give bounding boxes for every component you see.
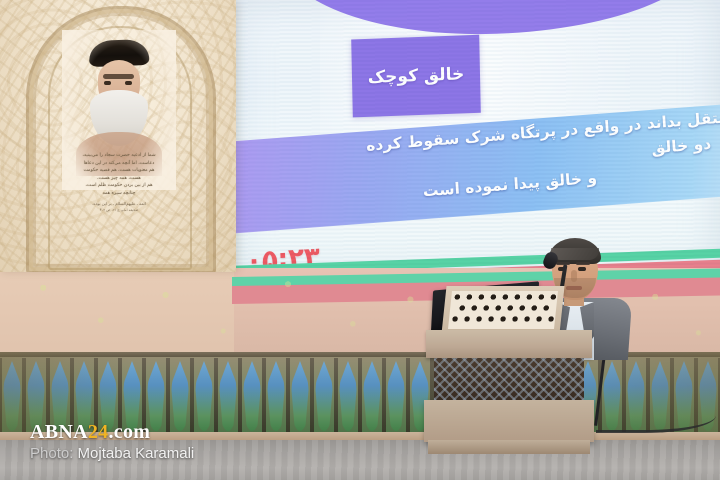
banner-quote: شما از ادعیه حضرت سجاد را می‌بینید، دعاس… <box>54 152 184 215</box>
arch-leaf <box>387 361 405 431</box>
arch-rib-left <box>360 358 362 436</box>
quote-line-5: هم از بین بردن حکومت ظلم است، <box>54 182 184 190</box>
portrait-imam-khomeini <box>76 40 162 170</box>
slide-decor-blob <box>280 0 710 37</box>
arch-leaf <box>243 361 261 431</box>
logo-text-abna: ABNA <box>30 421 88 443</box>
arch-rib-left <box>312 358 314 436</box>
wainscot-arch-cell <box>0 356 24 436</box>
arch-leaf <box>171 361 189 431</box>
arch-rib-left <box>216 358 218 436</box>
arch-rib-left <box>24 358 26 436</box>
arch-leaf <box>315 361 333 431</box>
arch-rib-left <box>288 358 290 436</box>
wainscot-arch-cell <box>384 356 408 436</box>
projection-screen: خالق کوچک مستقل بداند در واقع در پرتگاه … <box>232 0 720 286</box>
arch-leaf <box>267 361 285 431</box>
arch-rib-left <box>264 358 266 436</box>
logo-text-24: 24 <box>88 421 109 443</box>
quote-line-3: هم معنویات هست، هم قضیه حکومت <box>54 167 184 175</box>
quote-line-1: شما از ادعیه حضرت سجاد را می‌بینید، <box>54 152 184 160</box>
photo-credit-label: Photo: <box>30 445 73 462</box>
eye-left-shape <box>104 81 111 85</box>
arch-leaf <box>195 361 213 431</box>
wainscot-arch-cell <box>288 356 312 436</box>
arch-leaf <box>219 361 237 431</box>
brow-shape <box>103 74 134 79</box>
wainscot-arch-cell <box>216 356 240 436</box>
slide-title-text: خالق کوچک <box>368 64 465 88</box>
arch-leaf <box>3 361 21 431</box>
podium-mashrabiya-tile <box>448 291 558 329</box>
quote-source: صحیفه امام، ج ۲۱، ص ۴۰۲ <box>54 207 184 215</box>
wainscot-arch-cell <box>192 356 216 436</box>
podium-lattice-pattern <box>434 358 584 400</box>
wall-beige-left <box>0 260 234 358</box>
wainscot-arch-cell <box>240 356 264 436</box>
quote-line-7: ائمه ـ علیهم‌السلام ـ بر این بوده. <box>54 200 184 208</box>
arch-rib-left <box>0 358 2 436</box>
quote-line-6: چنانچه سیره همه <box>54 190 184 198</box>
wainscot-arch-cell <box>336 356 360 436</box>
photo-credit: Photo: Mojtaba Karamali <box>30 444 194 463</box>
quote-line-4: هست، همه چیز هست، <box>54 175 184 183</box>
arch-rib-left <box>240 358 242 436</box>
eye-right-shape <box>125 81 132 85</box>
podium-base <box>424 400 594 442</box>
arch-rib-left <box>408 358 410 436</box>
arch-leaf <box>339 361 357 431</box>
photo-canvas: خالق کوچک مستقل بداند در واقع در پرتگاه … <box>0 0 720 480</box>
podium-lattice-band <box>434 358 584 400</box>
logo-text-com: .com <box>108 421 150 443</box>
watermark: ABNA24.com Photo: Mojtaba Karamali <box>30 422 194 463</box>
quote-line-2: دعاست، اما آنچه می‌کند در این دعاها <box>54 160 184 168</box>
podium-reading-panel <box>441 286 564 334</box>
arch-leaf <box>291 361 309 431</box>
photo-credit-name: Mojtaba Karamali <box>78 445 195 462</box>
mic-head-icon <box>541 250 559 271</box>
wainscot-arch-cell <box>312 356 336 436</box>
podium-top-slab <box>426 330 592 358</box>
arch-rib-left <box>384 358 386 436</box>
podium-plinth <box>428 440 590 454</box>
slide-title-chip: خالق کوچک <box>351 35 481 118</box>
wainscot-arch-cell <box>360 356 384 436</box>
wainscot-arch-cell <box>264 356 288 436</box>
arch-rib-left <box>336 358 338 436</box>
imam-khomeini-banner: شما از ادعیه حضرت سجاد را می‌بینید، دعاس… <box>0 0 236 272</box>
abna24-logo: ABNA24.com <box>30 422 194 442</box>
arch-leaf <box>363 361 381 431</box>
wooden-podium <box>424 330 594 470</box>
